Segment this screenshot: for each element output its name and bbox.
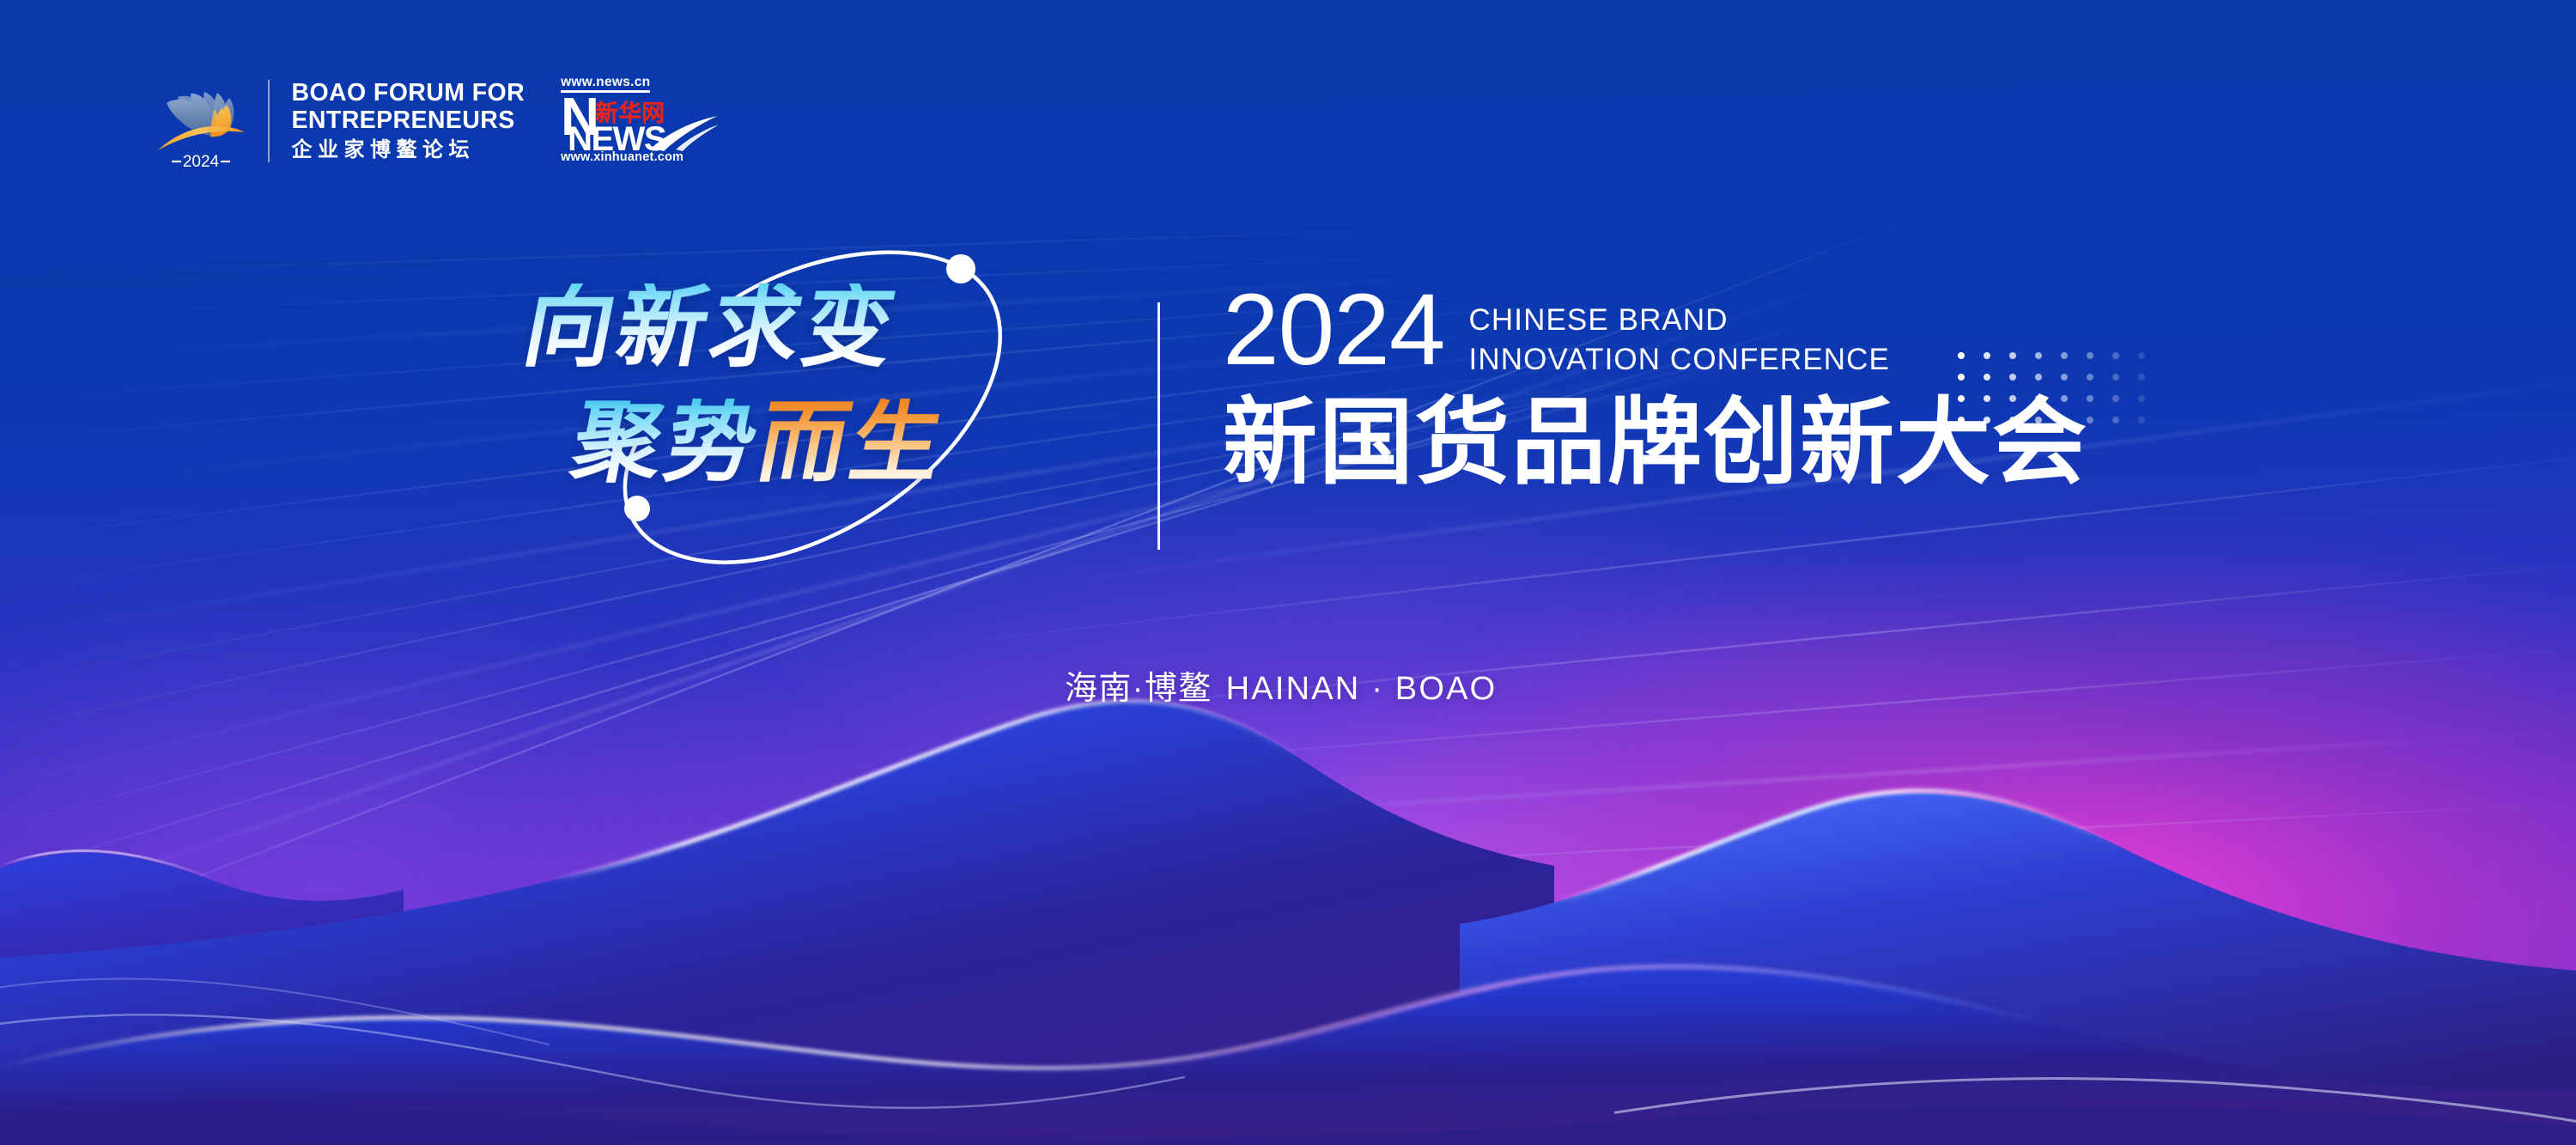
dot-grid-dot [2087, 395, 2093, 402]
dot-grid-dot [2138, 352, 2145, 359]
dot-grid-dot [1984, 395, 1990, 402]
dot-grid-dot [2061, 374, 2068, 381]
bfe-logo-year: 2024 [183, 153, 220, 171]
title-english-line-1: CHINESE BRAND [1469, 301, 1890, 340]
dot-grid-dot [2138, 395, 2145, 402]
boao-forum-emblem-icon: 2024 [153, 70, 249, 172]
location-english: HAINAN · BOAO [1226, 671, 1498, 707]
dot-grid-dot [2009, 417, 2016, 423]
dot-grid-dot [2035, 352, 2042, 359]
logo-bar: 2024 BOAO FORUM FOR ENTREPRENEURS 企业家博鳌论… [153, 70, 719, 172]
slogan-block: 向新求变 聚势 而生 [526, 283, 1144, 567]
dot-grid-dot [2087, 417, 2093, 423]
dot-grid-dot [2112, 352, 2119, 359]
bfe-chinese-name: 企业家博鳌论坛 [292, 139, 526, 162]
location-chinese: 海南·博鳌 [1065, 671, 1212, 707]
dot-grid-dot [2009, 352, 2016, 359]
slogan-line-1: 向新求变 [517, 283, 1152, 373]
xinhua-mark: N 新华网 NEWS [561, 93, 719, 149]
xinhua-swoosh-icon [650, 113, 722, 153]
title-english-line-2: INNOVATION CONFERENCE [1469, 340, 1890, 380]
conference-banner: 2024 BOAO FORUM FOR ENTREPRENEURS 企业家博鳌论… [0, 0, 2576, 1145]
bfe-english-line-1: BOAO FORUM FOR [292, 80, 526, 107]
dot-grid-dot [2087, 374, 2093, 381]
dot-grid-row [1958, 395, 2164, 402]
dot-grid-dot [1958, 417, 1965, 423]
dot-grid-dot [1958, 352, 1965, 359]
dot-grid-dot [2138, 417, 2145, 423]
dot-grid-dot [2061, 417, 2068, 423]
dot-grid-dot [1958, 374, 1965, 381]
xinhuanet-logo: www.news.cn N 新华网 NEWS www.xinhuanet.com [561, 75, 719, 167]
dot-grid-row [1958, 352, 2164, 359]
dot-grid-dot [2035, 395, 2042, 402]
slogan-line-2-cyan: 聚势 [565, 399, 768, 488]
dot-grid-dot [2061, 395, 2068, 402]
dot-grid-decoration [1958, 352, 2164, 423]
dot-grid-dot [1958, 395, 1965, 402]
dot-grid-dot [2061, 352, 2068, 359]
dot-grid-dot [2035, 374, 2042, 381]
dot-grid-dot [2035, 417, 2042, 423]
dot-grid-dot [1984, 417, 1990, 423]
slogan-line-2: 聚势 而生 [565, 399, 1152, 488]
boao-forum-wordmark: BOAO FORUM FOR ENTREPRENEURS 企业家博鳌论坛 [292, 80, 526, 162]
dot-grid-dot [2009, 374, 2016, 381]
background-dune-shapes [0, 481, 2576, 1145]
logo-divider [268, 80, 270, 162]
dot-grid-dot [1984, 374, 1990, 381]
dot-grid-dot [2009, 395, 2016, 402]
bfe-english-line-2: ENTREPRENEURS [292, 107, 526, 135]
dot-grid-row [1958, 374, 2164, 381]
dot-grid-dot [1984, 352, 1990, 359]
dot-grid-dot [2112, 374, 2119, 381]
dot-grid-dot [2087, 352, 2093, 359]
slogan-line-2-orange: 而生 [750, 399, 953, 488]
location-line: 海南·博鳌HAINAN · BOAO [1065, 661, 1497, 709]
title-english-lines: CHINESE BRAND INNOVATION CONFERENCE [1469, 283, 1890, 380]
dot-grid-dot [2138, 374, 2145, 381]
dot-grid-row [1958, 417, 2164, 423]
dot-grid-dot [2112, 417, 2119, 423]
title-year: 2024 [1223, 283, 1445, 377]
dot-grid-dot [2112, 395, 2119, 402]
title-divider [1157, 302, 1160, 550]
